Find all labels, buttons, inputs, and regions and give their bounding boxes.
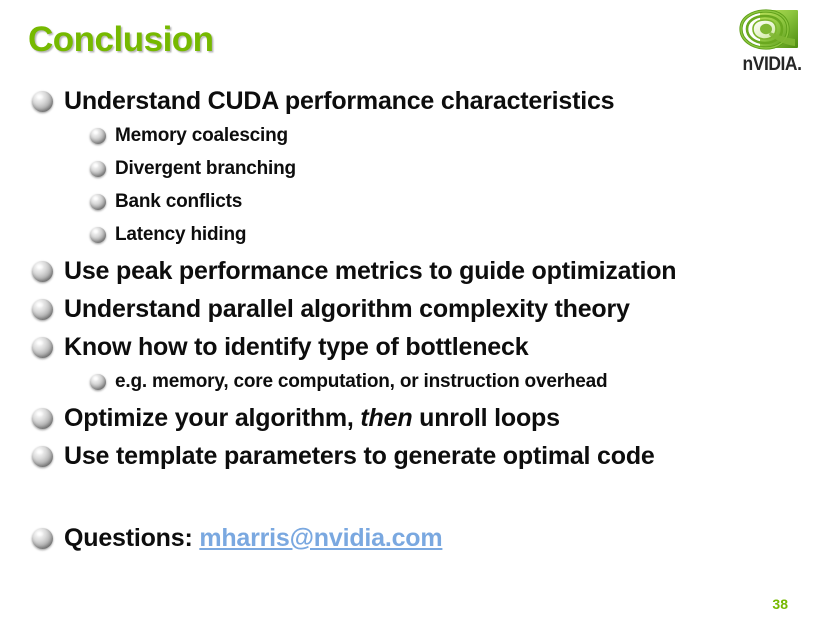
list-item: Use peak performance metrics to guide op… (0, 254, 832, 292)
list-item: Understand parallel algorithm complexity… (0, 292, 832, 330)
bullet-list: Understand CUDA performance characterist… (0, 84, 832, 559)
bullet-text-part: Optimize your algorithm, (64, 404, 360, 432)
list-spacer (0, 477, 832, 521)
bullet-text-emphasis: then (360, 404, 412, 432)
list-item: Use template parameters to generate opti… (0, 439, 832, 477)
nvidia-eye-icon (738, 8, 800, 55)
bullet-text: e.g. memory, core computation, or instru… (115, 368, 607, 396)
bullet-sphere-icon (90, 161, 106, 177)
bullet-sphere-icon (32, 337, 53, 358)
list-item: Know how to identify type of bottleneck (0, 330, 832, 368)
list-item: Bank conflicts (0, 188, 832, 221)
list-item: Memory coalescing (0, 122, 832, 155)
bullet-text: Divergent branching (115, 155, 296, 183)
list-item: Questions: mharris@nvidia.com (0, 521, 832, 559)
bullet-sphere-icon (32, 299, 53, 320)
bullet-sphere-icon (90, 374, 106, 390)
bullet-sphere-icon (90, 194, 106, 210)
bullet-text-rich: Questions: mharris@nvidia.com (64, 521, 442, 555)
bullet-sphere-icon (32, 446, 53, 467)
page-title: Conclusion (28, 20, 214, 60)
bullet-text: Use template parameters to generate opti… (64, 439, 655, 473)
page-number: 38 (772, 596, 788, 612)
bullet-sphere-icon (32, 261, 53, 282)
email-link[interactable]: mharris@nvidia.com (199, 524, 442, 552)
bullet-text-rich: Optimize your algorithm, then unroll loo… (64, 401, 560, 435)
list-item: Divergent branching (0, 155, 832, 188)
slide-canvas: Conclusion (0, 0, 832, 626)
questions-label: Questions: (64, 524, 199, 552)
bullet-text: Latency hiding (115, 221, 246, 249)
bullet-text: Use peak performance metrics to guide op… (64, 254, 676, 288)
bullet-text: Understand CUDA performance characterist… (64, 84, 614, 118)
list-item: e.g. memory, core computation, or instru… (0, 368, 832, 401)
bullet-sphere-icon (90, 128, 106, 144)
bullet-text: Know how to identify type of bottleneck (64, 330, 528, 364)
bullet-sphere-icon (32, 528, 53, 549)
list-item: Understand CUDA performance characterist… (0, 84, 832, 122)
bullet-text-part: unroll loops (412, 404, 559, 432)
nvidia-wordmark: nVIDIA. (730, 54, 815, 76)
bullet-text: Bank conflicts (115, 188, 242, 216)
bullet-sphere-icon (32, 408, 53, 429)
bullet-sphere-icon (90, 227, 106, 243)
nvidia-logo: nVIDIA. (726, 8, 818, 80)
list-item: Optimize your algorithm, then unroll loo… (0, 401, 832, 439)
bullet-text: Understand parallel algorithm complexity… (64, 292, 630, 326)
bullet-text: Memory coalescing (115, 122, 288, 150)
list-item: Latency hiding (0, 221, 832, 254)
bullet-sphere-icon (32, 91, 53, 112)
